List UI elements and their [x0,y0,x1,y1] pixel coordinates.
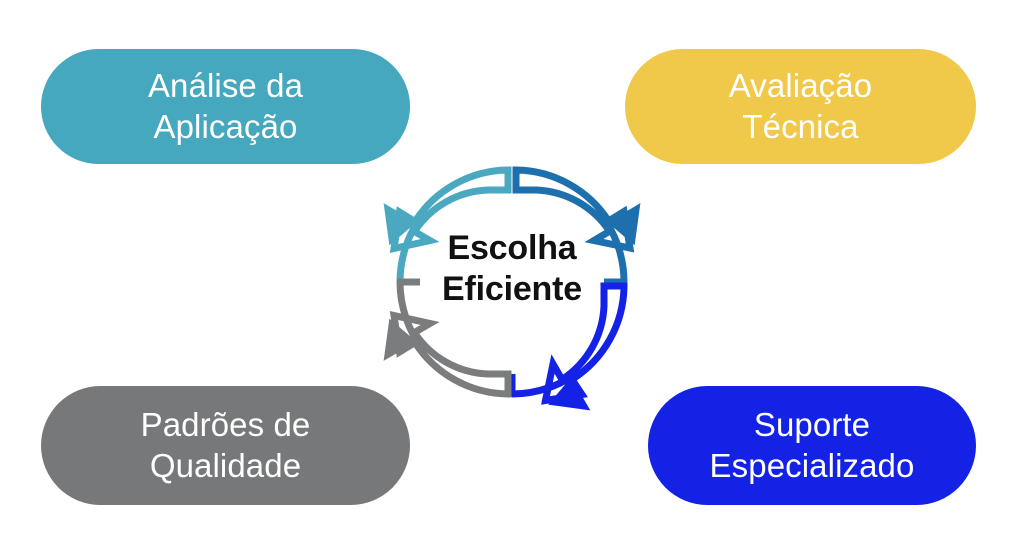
node-padroes-line2: Qualidade [141,446,311,486]
center-title: Escolha Eficiente [392,228,632,311]
diagram-canvas: Análise da Aplicação Avaliação Técnica P… [0,0,1024,555]
node-analise-line1: Análise da [148,66,303,106]
node-analise-label: Análise da Aplicação [148,66,303,147]
node-suporte-especializado[interactable]: Suporte Especializado [648,386,976,505]
node-avaliacao-label: Avaliação Técnica [729,66,872,147]
node-suporte-line2: Especializado [710,446,915,486]
node-padroes-line1: Padrões de [141,405,311,445]
node-suporte-line1: Suporte [710,405,915,445]
node-analise-line2: Aplicação [148,107,303,147]
node-padroes-label: Padrões de Qualidade [141,405,311,486]
center-title-line1: Escolha [392,228,632,269]
node-avaliacao-line1: Avaliação [729,66,872,106]
node-suporte-label: Suporte Especializado [710,405,915,486]
node-avaliacao-tecnica[interactable]: Avaliação Técnica [625,49,976,164]
node-avaliacao-line2: Técnica [729,107,872,147]
center-title-line2: Eficiente [392,269,632,310]
